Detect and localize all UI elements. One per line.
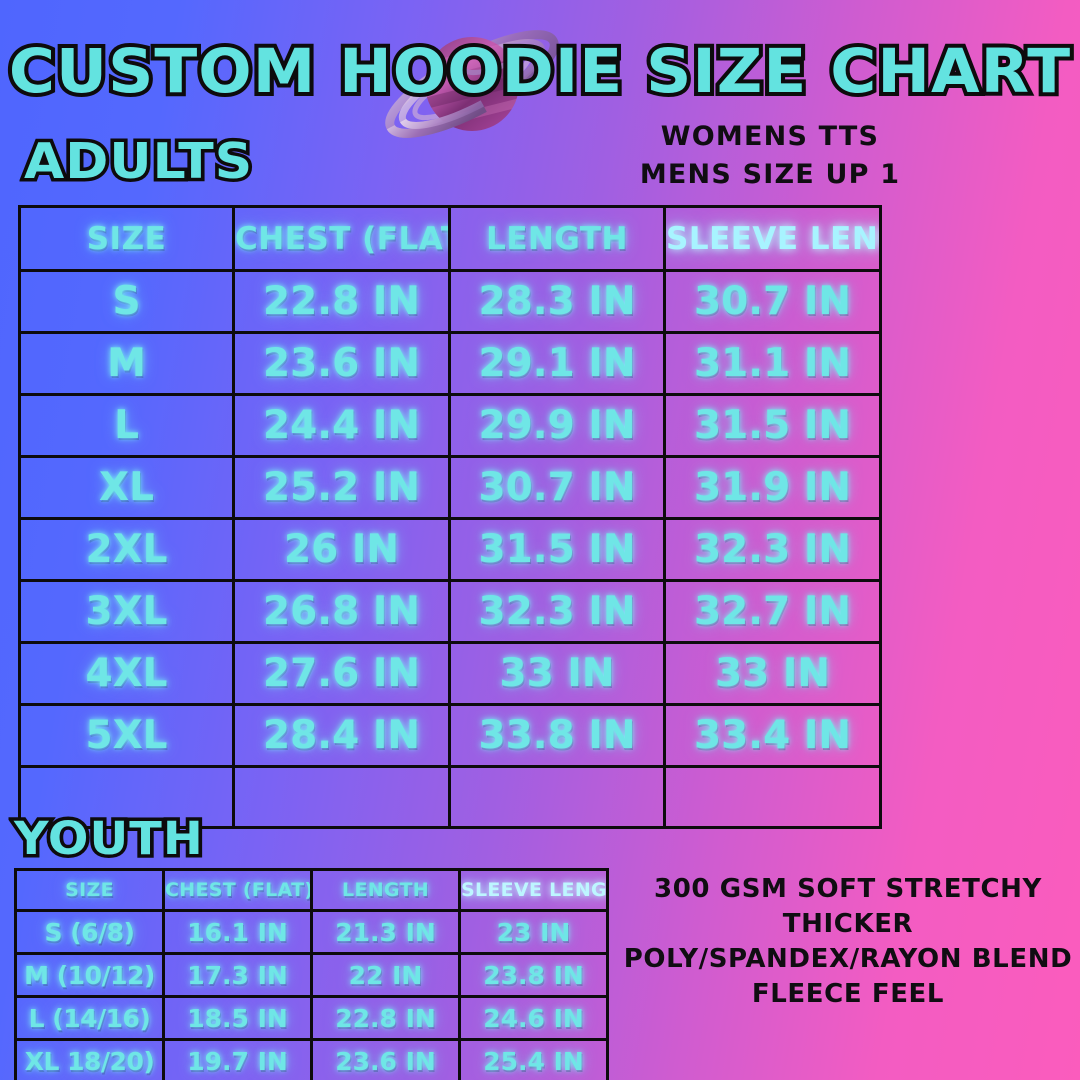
table-row: S 22.8 IN 28.3 IN 30.7 IN bbox=[20, 271, 881, 333]
column-header-chest: CHEST (FLAT) bbox=[234, 207, 450, 271]
cell-chest: 28.4 IN bbox=[234, 705, 450, 767]
size-chart-poster: CUSTOM HOODIE SIZE CHART ADULTS WOMENS T… bbox=[0, 0, 1080, 1080]
fabric-notes: 300 GSM SOFT STRETCHY THICKER POLY/SPAND… bbox=[622, 872, 1074, 1012]
cell-chest: 19.7 IN bbox=[164, 1040, 312, 1080]
cell-chest: 26 IN bbox=[234, 519, 450, 581]
cell-sleeve: 23 IN bbox=[460, 911, 608, 954]
cell-size: M bbox=[20, 333, 234, 395]
cell-sleeve: 23.8 IN bbox=[460, 954, 608, 997]
cell-length: 21.3 IN bbox=[312, 911, 460, 954]
column-header-sleeve-length: SLEEVE LENGTH bbox=[460, 870, 608, 911]
cell-chest: 27.6 IN bbox=[234, 643, 450, 705]
cell-sleeve: 32.3 IN bbox=[665, 519, 881, 581]
cell-chest: 24.4 IN bbox=[234, 395, 450, 457]
table-row: 5XL 28.4 IN 33.8 IN 33.4 IN bbox=[20, 705, 881, 767]
cell-length: 30.7 IN bbox=[450, 457, 665, 519]
cell-size: XL 18/20) bbox=[16, 1040, 164, 1080]
fabric-note-line: THICKER bbox=[622, 907, 1074, 942]
cell-chest: 17.3 IN bbox=[164, 954, 312, 997]
cell-sleeve: 33 IN bbox=[665, 643, 881, 705]
adults-size-table: SIZE CHEST (FLAT) LENGTH SLEEVE LENGTH S… bbox=[18, 205, 882, 829]
table-row: S (6/8) 16.1 IN 21.3 IN 23 IN bbox=[16, 911, 608, 954]
youth-size-table: SIZE CHEST (FLAT) LENGTH SLEEVE LENGTH S… bbox=[14, 868, 609, 1080]
column-header-length: LENGTH bbox=[450, 207, 665, 271]
cell-size: XL bbox=[20, 457, 234, 519]
table-row: 3XL 26.8 IN 32.3 IN 32.7 IN bbox=[20, 581, 881, 643]
cell-sleeve: 30.7 IN bbox=[665, 271, 881, 333]
cell-size: L bbox=[20, 395, 234, 457]
cell-sleeve: 31.5 IN bbox=[665, 395, 881, 457]
cell-chest: 23.6 IN bbox=[234, 333, 450, 395]
cell-sleeve: 33.4 IN bbox=[665, 705, 881, 767]
cell-sleeve bbox=[665, 767, 881, 828]
youth-section-heading: YOUTH bbox=[14, 812, 204, 866]
adults-section-heading: ADULTS bbox=[24, 132, 253, 192]
cell-sleeve: 32.7 IN bbox=[665, 581, 881, 643]
cell-sleeve: 24.6 IN bbox=[460, 997, 608, 1040]
cell-size: 5XL bbox=[20, 705, 234, 767]
cell-size: M (10/12) bbox=[16, 954, 164, 997]
table-row: M (10/12) 17.3 IN 22 IN 23.8 IN bbox=[16, 954, 608, 997]
cell-chest: 26.8 IN bbox=[234, 581, 450, 643]
cell-size: S (6/8) bbox=[16, 911, 164, 954]
fabric-note-line: FLEECE FEEL bbox=[622, 977, 1074, 1012]
table-row: 4XL 27.6 IN 33 IN 33 IN bbox=[20, 643, 881, 705]
fit-notes: WOMENS TTS MENS SIZE UP 1 bbox=[560, 118, 980, 194]
fit-note-line: WOMENS TTS bbox=[560, 118, 980, 156]
cell-size: 4XL bbox=[20, 643, 234, 705]
table-row: XL 18/20) 19.7 IN 23.6 IN 25.4 IN bbox=[16, 1040, 608, 1080]
cell-sleeve: 25.4 IN bbox=[460, 1040, 608, 1080]
fit-note-line: MENS SIZE UP 1 bbox=[560, 156, 980, 194]
cell-size: 2XL bbox=[20, 519, 234, 581]
table-row: M 23.6 IN 29.1 IN 31.1 IN bbox=[20, 333, 881, 395]
cell-sleeve: 31.9 IN bbox=[665, 457, 881, 519]
cell-length: 32.3 IN bbox=[450, 581, 665, 643]
cell-sleeve: 31.1 IN bbox=[665, 333, 881, 395]
table-header-row: SIZE CHEST (FLAT) LENGTH SLEEVE LENGTH bbox=[20, 207, 881, 271]
column-header-length: LENGTH bbox=[312, 870, 460, 911]
cell-size: S bbox=[20, 271, 234, 333]
cell-length: 29.1 IN bbox=[450, 333, 665, 395]
cell-length: 22 IN bbox=[312, 954, 460, 997]
column-header-size: SIZE bbox=[16, 870, 164, 911]
fabric-note-line: POLY/SPANDEX/RAYON BLEND bbox=[622, 942, 1074, 977]
table-row: L (14/16) 18.5 IN 22.8 IN 24.6 IN bbox=[16, 997, 608, 1040]
cell-length: 28.3 IN bbox=[450, 271, 665, 333]
table-row: 2XL 26 IN 31.5 IN 32.3 IN bbox=[20, 519, 881, 581]
cell-length: 31.5 IN bbox=[450, 519, 665, 581]
page-title: CUSTOM HOODIE SIZE CHART bbox=[0, 36, 1080, 108]
cell-size: 3XL bbox=[20, 581, 234, 643]
column-header-size: SIZE bbox=[20, 207, 234, 271]
table-row: L 24.4 IN 29.9 IN 31.5 IN bbox=[20, 395, 881, 457]
fabric-note-line: 300 GSM SOFT STRETCHY bbox=[622, 872, 1074, 907]
table-header-row: SIZE CHEST (FLAT) LENGTH SLEEVE LENGTH bbox=[16, 870, 608, 911]
table-row: XL 25.2 IN 30.7 IN 31.9 IN bbox=[20, 457, 881, 519]
column-header-chest: CHEST (FLAT) bbox=[164, 870, 312, 911]
column-header-sleeve-length: SLEEVE LENGTH bbox=[665, 207, 881, 271]
cell-chest: 25.2 IN bbox=[234, 457, 450, 519]
cell-length: 22.8 IN bbox=[312, 997, 460, 1040]
cell-length: 23.6 IN bbox=[312, 1040, 460, 1080]
cell-length bbox=[450, 767, 665, 828]
cell-chest: 16.1 IN bbox=[164, 911, 312, 954]
cell-chest: 18.5 IN bbox=[164, 997, 312, 1040]
cell-chest bbox=[234, 767, 450, 828]
cell-chest: 22.8 IN bbox=[234, 271, 450, 333]
cell-length: 33 IN bbox=[450, 643, 665, 705]
cell-length: 33.8 IN bbox=[450, 705, 665, 767]
cell-size: L (14/16) bbox=[16, 997, 164, 1040]
cell-length: 29.9 IN bbox=[450, 395, 665, 457]
